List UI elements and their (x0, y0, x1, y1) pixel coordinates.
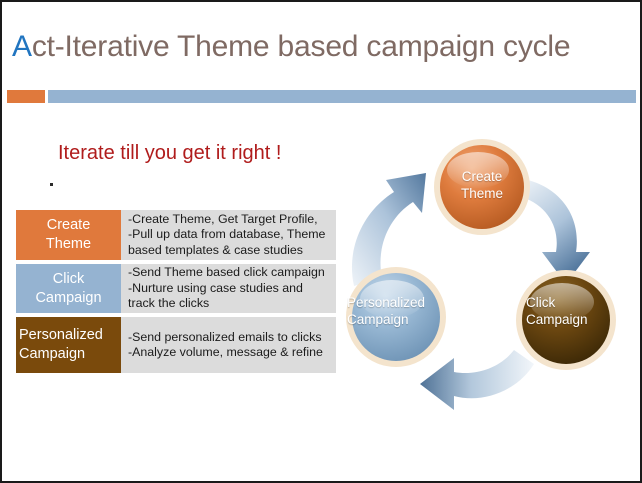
table-row: Create Theme -Create Theme, Get Target P… (16, 210, 336, 260)
steps-table: Create Theme -Create Theme, Get Target P… (16, 210, 336, 377)
desc-line: based templates & case studies (128, 243, 332, 259)
arrow-create-to-click-icon (522, 180, 590, 284)
subtitle-text: Iterate till you get it right ! (58, 141, 281, 165)
desc-line: -Create Theme, Get Target Profile, (128, 212, 332, 228)
step-label-personalized-campaign: Personalized Campaign (16, 317, 121, 373)
table-row: Personalized Campaign -Send personalized… (16, 317, 336, 373)
cycle-node-personalized-campaign[interactable] (346, 267, 446, 367)
title-lead-letter: A (12, 30, 32, 63)
campaign-cycle-diagram: Create Theme Click Campaign Personalized… (338, 128, 638, 413)
cycle-node-click-campaign[interactable] (516, 270, 616, 370)
step-label-click-campaign: Click Campaign (16, 264, 121, 313)
desc-line: track the clicks (128, 296, 332, 312)
step-label-create-theme: Create Theme (16, 210, 121, 260)
title-rule-blue (48, 90, 636, 103)
title-rule-orange (7, 90, 45, 103)
desc-line: -Pull up data from database, Theme (128, 227, 332, 243)
step-label-line: Campaign (19, 345, 85, 364)
stray-dot-marker (50, 183, 53, 186)
desc-line: -Analyze volume, message & refine (128, 345, 332, 361)
slide-canvas: Act-Iterative Theme based campaign cycle… (0, 0, 642, 483)
step-label-line: Click (53, 270, 84, 289)
step-description-create-theme: -Create Theme, Get Target Profile, -Pull… (121, 210, 336, 260)
step-label-line: Personalized (19, 326, 103, 345)
arrow-click-to-personalized-icon (420, 350, 534, 410)
page-title: Act-Iterative Theme based campaign cycle (12, 28, 632, 66)
step-description-personalized-campaign: -Send personalized emails to clicks -Ana… (121, 317, 336, 373)
step-description-click-campaign: -Send Theme based click campaign -Nurtur… (121, 264, 336, 313)
desc-line: -Nurture using case studies and (128, 281, 332, 297)
title-rest: ct-Iterative Theme based campaign cycle (32, 30, 571, 63)
cycle-node-create-theme[interactable] (434, 139, 530, 235)
desc-line: -Send personalized emails to clicks (128, 330, 332, 346)
step-label-line: Theme (46, 235, 91, 254)
table-row: Click Campaign -Send Theme based click c… (16, 264, 336, 313)
desc-line: -Send Theme based click campaign (128, 265, 332, 281)
step-label-line: Campaign (35, 289, 101, 308)
step-label-line: Create (47, 216, 91, 235)
